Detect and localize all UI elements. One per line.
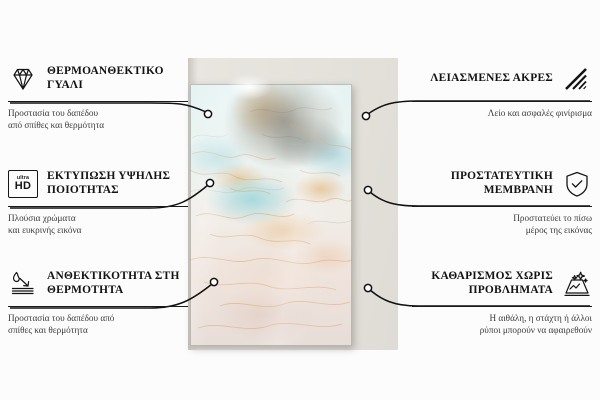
- connector-dot-right-3: [364, 284, 371, 291]
- divider: [412, 306, 592, 307]
- heat-resistance-icon: [8, 269, 38, 299]
- feature-high-quality-print: ultra HD ΕΚΤΥΠΩΣΗ ΥΨΗΛΗΣ ΠΟΙΟΤΗΤΑΣ Πλούσ…: [8, 167, 188, 237]
- connector-dot-left-3: [210, 278, 217, 285]
- easy-cleaning-icon: [562, 269, 592, 299]
- feature-header: ultra HD ΕΚΤΥΠΩΣΗ ΥΨΗΛΗΣ ΠΟΙΟΤΗΤΑΣ: [8, 167, 188, 201]
- shield-check-icon: [562, 169, 592, 199]
- feature-description: Η αιθάλη, η στάχτη ή άλλοι ρύποι μπορούν…: [412, 312, 592, 337]
- desc-line-2: από σπίθες και θερμότητα: [8, 119, 188, 131]
- ultra-hd-icon: ultra HD: [8, 170, 38, 198]
- feature-title: ΕΚΤΥΠΩΣΗ ΥΨΗΛΗΣ ΠΟΙΟΤΗΤΑΣ: [47, 170, 188, 198]
- connector-dot-right-2: [364, 186, 371, 193]
- polished-edges-icon: [562, 64, 592, 94]
- desc-line-2: μέρος της εικόνας: [412, 224, 592, 236]
- connector-dot-left-1: [204, 110, 211, 117]
- desc-line-1: Προστασία του δαπέδου από: [8, 312, 188, 324]
- feature-protective-membrane: ΠΡΟΣΤΑΤΕΥΤΙΚΗ ΜΕΜΒΡΑΝΗ Προστατεύει το πί…: [412, 167, 592, 237]
- desc-line-1: Προστασία του δαπέδου: [8, 107, 188, 119]
- feature-title: ΛΕΙΑΣΜΕΝΕΣ ΑΚΡΕΣ: [412, 72, 553, 86]
- feature-description: Λείο και ασφαλές φινίρισμα: [412, 107, 592, 119]
- infographic-canvas: ΘΕΡΜΟΑΝΘΕΚΤΙΚΟ ΓΥΑΛΙ Προστασία του δαπέδ…: [0, 0, 600, 400]
- ultra-hd-bottom-label: HD: [15, 181, 32, 193]
- feature-title: ΠΡΟΣΤΑΤΕΥΤΙΚΗ ΜΕΜΒΡΑΝΗ: [412, 170, 553, 198]
- desc-line-2: και ευκρινής εικόνα: [8, 224, 188, 236]
- feature-title: ΘΕΡΜΟΑΝΘΕΚΤΙΚΟ ΓΥΑΛΙ: [47, 65, 188, 93]
- feature-heat-resistant-glass: ΘΕΡΜΟΑΝΘΕΚΤΙΚΟ ΓΥΑΛΙ Προστασία του δαπέδ…: [8, 62, 188, 132]
- divider: [8, 306, 188, 307]
- desc-line-1: Λείο και ασφαλές φινίρισμα: [412, 107, 592, 119]
- diamond-icon: [8, 64, 38, 94]
- feature-description: Προστατεύει το πίσω μέρος της εικόνας: [412, 212, 592, 237]
- desc-line-2: ρύποι μπορούν να αφαιρεθούν: [412, 324, 592, 336]
- feature-polished-edges: ΛΕΙΑΣΜΕΝΕΣ ΑΚΡΕΣ Λείο και ασφαλές φινίρι…: [412, 62, 592, 119]
- connector-dot-right-1: [362, 112, 369, 119]
- feature-description: Πλούσια χρώματα και ευκρινής εικόνα: [8, 212, 188, 237]
- divider: [412, 206, 592, 207]
- divider: [8, 101, 188, 102]
- feature-heat-durability: ΑΝΘΕΚΤΙΚΟΤΗΤΑ ΣΤΗ ΘΕΡΜΟΤΗΤΑ Προστασία το…: [8, 267, 188, 337]
- feature-header: ΚΑΘΑΡΙΣΜΟΣ ΧΩΡΙΣ ΠΡΟΒΛΗΜΑΤΑ: [412, 267, 592, 301]
- feature-title: ΑΝΘΕΚΤΙΚΟΤΗΤΑ ΣΤΗ ΘΕΡΜΟΤΗΤΑ: [47, 270, 188, 298]
- feature-easy-cleaning: ΚΑΘΑΡΙΣΜΟΣ ΧΩΡΙΣ ΠΡΟΒΛΗΜΑΤΑ Η αιθάλη, η …: [412, 267, 592, 337]
- connector-dot-left-2: [206, 179, 213, 186]
- feature-description: Προστασία του δαπέδου από σπίθες και θερ…: [8, 312, 188, 337]
- feature-description: Προστασία του δαπέδου από σπίθες και θερ…: [8, 107, 188, 132]
- feature-header: ΠΡΟΣΤΑΤΕΥΤΙΚΗ ΜΕΜΒΡΑΝΗ: [412, 167, 592, 201]
- feature-header: ΛΕΙΑΣΜΕΝΕΣ ΑΚΡΕΣ: [412, 62, 592, 96]
- feature-title: ΚΑΘΑΡΙΣΜΟΣ ΧΩΡΙΣ ΠΡΟΒΛΗΜΑΤΑ: [412, 270, 553, 298]
- divider: [412, 101, 592, 102]
- divider: [8, 206, 188, 207]
- desc-line-2: σπίθες και θερμότητα: [8, 324, 188, 336]
- desc-line-1: Πλούσια χρώματα: [8, 212, 188, 224]
- desc-line-1: Προστατεύει το πίσω: [412, 212, 592, 224]
- feature-header: ΑΝΘΕΚΤΙΚΟΤΗΤΑ ΣΤΗ ΘΕΡΜΟΤΗΤΑ: [8, 267, 188, 301]
- feature-header: ΘΕΡΜΟΑΝΘΕΚΤΙΚΟ ΓΥΑΛΙ: [8, 62, 188, 96]
- desc-line-1: Η αιθάλη, η στάχτη ή άλλοι: [412, 312, 592, 324]
